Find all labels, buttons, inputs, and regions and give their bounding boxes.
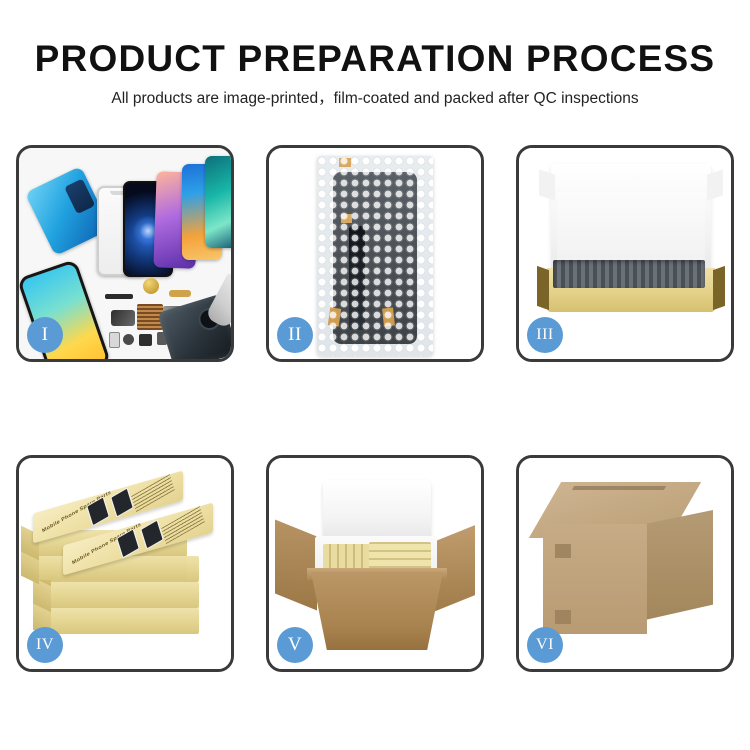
vibrator-part xyxy=(123,334,134,345)
box-thumb-d xyxy=(110,487,134,517)
page-subtitle: All products are image-printed，film-coat… xyxy=(0,88,750,110)
button-part xyxy=(139,334,152,346)
carton-side-face xyxy=(645,510,713,620)
foam-box-lid xyxy=(323,480,431,542)
carton-tape-lower xyxy=(555,610,571,624)
carton-flap-left xyxy=(275,520,317,611)
process-step-4[interactable]: Mobile Phone Spare Parts Mobile Phone Sp… xyxy=(16,455,234,672)
box-spec-lines-top xyxy=(131,474,174,512)
step-2-badge: II xyxy=(277,317,313,353)
tape-bottom-right xyxy=(382,307,395,326)
step-3-badge: III xyxy=(527,317,563,353)
process-step-6[interactable]: VI xyxy=(516,455,734,672)
process-step-5[interactable]: V xyxy=(266,455,484,672)
carton-top-seam xyxy=(572,486,666,490)
process-step-3[interactable]: III xyxy=(516,145,734,362)
page-header: PRODUCT PREPARATION PROCESS All products… xyxy=(0,0,750,110)
screen-flex-cable xyxy=(349,226,365,330)
carton-tape-upper xyxy=(555,544,571,558)
ribbon-cable-part xyxy=(111,310,135,326)
speaker-part xyxy=(143,278,159,294)
box-thumb-b xyxy=(140,519,164,549)
retail-box-layer-4 xyxy=(49,582,199,608)
phone-screen-teal xyxy=(205,156,231,248)
tape-middle xyxy=(341,214,352,223)
page-title: PRODUCT PREPARATION PROCESS xyxy=(0,36,750,82)
process-steps-grid: I II xyxy=(16,145,734,672)
retail-box-layer-5 xyxy=(49,608,199,634)
outer-carton-open xyxy=(311,572,443,650)
process-step-1[interactable]: I xyxy=(16,145,234,362)
sim-tray-part xyxy=(109,332,120,348)
wrapped-screen-assembly xyxy=(333,172,417,344)
box-spec-lines-front xyxy=(161,506,204,544)
connector-bar-part xyxy=(105,294,133,299)
flex-cable-part xyxy=(169,290,191,297)
packed-screens-row xyxy=(553,260,705,288)
step-1-badge: I xyxy=(27,317,63,353)
step-5-badge: V xyxy=(277,627,313,663)
step-6-badge: VI xyxy=(527,627,563,663)
bubble-wrap-bag xyxy=(317,156,433,356)
step-4-badge: IV xyxy=(27,627,63,663)
process-step-2[interactable]: II xyxy=(266,145,484,362)
tape-top xyxy=(339,158,351,167)
